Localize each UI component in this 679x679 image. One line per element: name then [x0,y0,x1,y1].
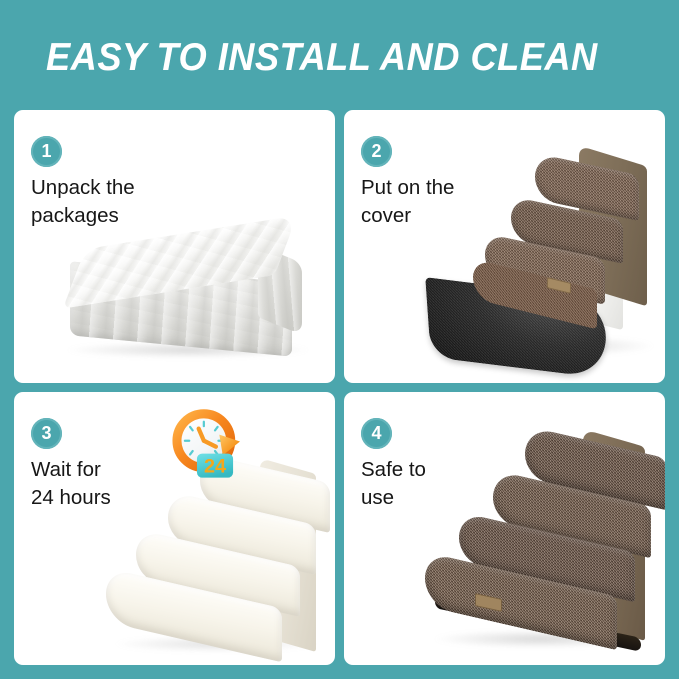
step-card-1: 1 Unpack the packages [14,110,335,383]
step-label-3: Wait for 24 hours [31,456,171,512]
step-badge-1: 1 [31,136,62,167]
steps-grid: 1 Unpack the packages 2 Put on the cover [14,110,665,665]
clock-24-hours-icon: 24 [166,402,252,488]
step-label-2: Put on the cover [361,174,501,230]
step-label-1: Unpack the packages [31,174,171,230]
clock-badge-number: 24 [204,456,226,478]
install-and-clean-infographic: EASY TO INSTALL AND CLEAN 1 Unpack the p… [0,0,679,679]
compressed-foam-package-image [62,230,312,365]
step-card-4: 4 Safe to use [344,392,665,665]
step-badge-3: 3 [31,418,62,449]
page-title: EASY TO INSTALL AND CLEAN [46,32,604,88]
step-card-2: 2 Put on the cover [344,110,665,383]
step-badge-2: 2 [361,136,392,167]
step-label-4: Safe to use [361,456,501,512]
step-badge-4: 4 [361,418,392,449]
step-card-3: 3 Wait for 24 hours [14,392,335,665]
